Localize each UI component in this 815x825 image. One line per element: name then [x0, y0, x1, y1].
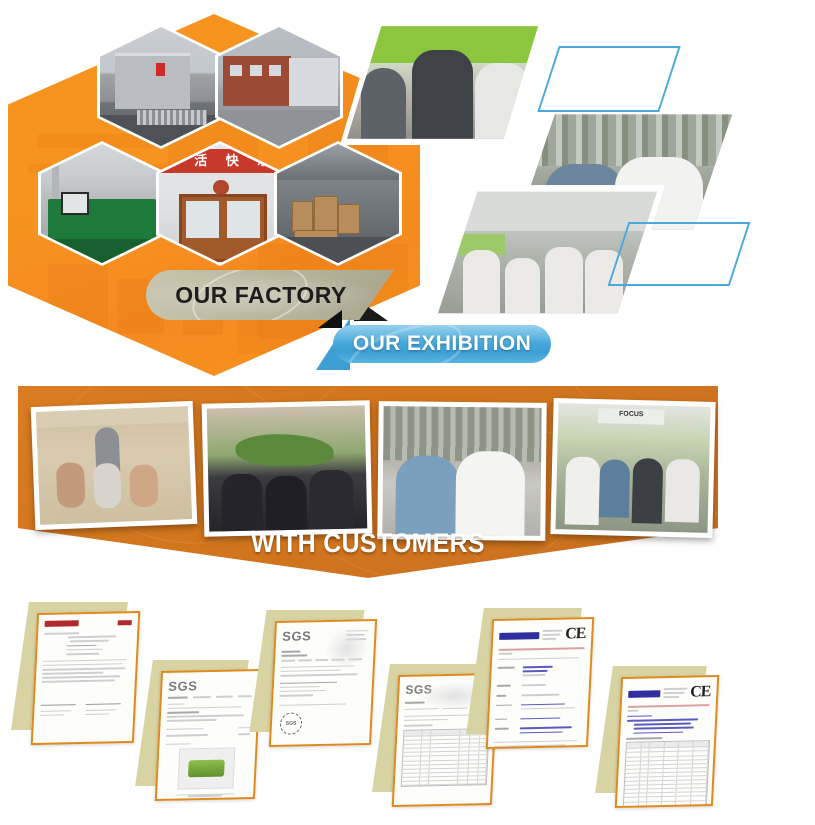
- building-shape: [115, 53, 191, 108]
- text-line: [664, 688, 688, 690]
- person-shape: [93, 463, 122, 509]
- field-label: [495, 718, 507, 720]
- field-value: [520, 707, 574, 710]
- section-title: [626, 737, 662, 739]
- exhibition-photo-exhibition-booth-visitors[interactable]: [340, 20, 545, 145]
- divider-line: [499, 647, 585, 650]
- photo-inner: [100, 27, 222, 146]
- text-line: [633, 727, 694, 730]
- text-line: [239, 727, 251, 729]
- certificate-content: SGS: [271, 621, 375, 745]
- issuer-logo: [628, 690, 660, 698]
- emblem-shape: [213, 180, 229, 195]
- field-value: [521, 703, 565, 706]
- customers-section: FOCUS WITH CUSTOMERS: [0, 380, 815, 595]
- results-table: [622, 740, 710, 808]
- store-shelf-backdrop: [383, 406, 542, 461]
- text-line: [279, 694, 314, 696]
- certificate-cert-authorization-letter[interactable]: [34, 612, 133, 740]
- plant-shape: [236, 433, 335, 467]
- signature-1: [41, 694, 76, 706]
- person-shape: [565, 456, 600, 525]
- green-product-shape: [188, 760, 224, 777]
- person-shape: [505, 258, 540, 320]
- field-value: [522, 674, 545, 676]
- certificate-content: CE: [617, 677, 717, 806]
- window-shape: [269, 65, 281, 76]
- customers-label-text: WITH CUSTOMERS: [46, 528, 690, 559]
- text-line: [542, 638, 556, 640]
- text-line: [543, 630, 563, 632]
- photo-inner: FOCUS: [555, 403, 710, 533]
- person-shape: [412, 50, 474, 145]
- field-label: [496, 695, 506, 697]
- exhibition-label-text: OUR EXHIBITION: [353, 332, 531, 356]
- person-shape: [665, 459, 700, 523]
- field-value: [522, 666, 553, 668]
- text-line: [280, 681, 337, 684]
- table-row: [624, 805, 706, 808]
- text-line: [280, 690, 327, 693]
- text-line: [281, 660, 295, 662]
- field-label: [498, 667, 515, 669]
- text-line: [633, 723, 691, 726]
- report-subtitle-line: [168, 696, 188, 698]
- letterhead-badge: [118, 620, 132, 625]
- customers-photo-customers-booth-focus[interactable]: FOCUS: [550, 398, 715, 538]
- exhibition-section: [330, 0, 815, 380]
- text-line: [70, 640, 109, 642]
- person-shape: [475, 63, 528, 146]
- text-line: [44, 632, 79, 634]
- sgs-logo: SGS: [168, 677, 253, 694]
- text-line: [280, 686, 320, 688]
- text-line: [193, 696, 210, 698]
- text-line: [404, 725, 433, 727]
- text-line: [42, 676, 120, 679]
- photo-inner: 生 活 快 乐: [159, 144, 281, 263]
- shop-shelf-backdrop: [508, 108, 740, 166]
- certificate-sheet: SGS: [155, 669, 261, 801]
- section-title: [627, 715, 652, 717]
- window-shape: [250, 65, 262, 76]
- field-value: [519, 731, 562, 733]
- certificate-cert-sgs-test-report-1[interactable]: SGS: [272, 620, 370, 742]
- watermark: [324, 627, 371, 669]
- text-line: [298, 659, 312, 661]
- text-line: [279, 703, 346, 706]
- field-value: [519, 727, 572, 730]
- ce-mark-icon: CE: [565, 625, 586, 643]
- text-line: [42, 680, 115, 683]
- photo-inner: [382, 406, 541, 536]
- person-shape: [361, 68, 406, 146]
- text-line: [494, 740, 577, 743]
- text-line: [85, 713, 109, 715]
- person-shape: [463, 250, 501, 320]
- photo-inner: [340, 20, 545, 145]
- brick-building-shape: [223, 56, 291, 106]
- text-line: [404, 719, 448, 722]
- photo-inner: [207, 405, 368, 531]
- sgs-logo: SGS: [282, 628, 312, 644]
- text-line: [215, 696, 232, 698]
- person-shape: [395, 455, 459, 535]
- text-line: [43, 663, 123, 666]
- fence-shape: [137, 110, 208, 124]
- issuer-logo: [499, 632, 539, 640]
- product-image: [177, 748, 235, 790]
- report-subtitle-line: [281, 655, 307, 657]
- person-shape: [455, 450, 525, 535]
- person-shape: [56, 462, 85, 508]
- caption-line: [188, 795, 222, 797]
- text-line: [85, 709, 116, 711]
- flag-shape: [156, 63, 165, 76]
- field-value: [521, 684, 546, 686]
- table-row: [402, 780, 486, 786]
- text-line: [280, 673, 358, 676]
- text-line: [166, 728, 203, 730]
- exhibition-outline-shape-2: [608, 222, 751, 286]
- text-line: [663, 692, 684, 694]
- door-glass: [227, 201, 260, 238]
- field-label: [497, 685, 512, 687]
- text-line: [66, 648, 103, 650]
- ce-mark-icon: CE: [690, 683, 711, 701]
- exhibition-label-ribbon[interactable]: OUR EXHIBITION: [333, 325, 551, 363]
- field-value: [522, 670, 548, 672]
- text-line: [40, 710, 71, 712]
- certificate-cert-sgs-test-report-product[interactable]: SGS: [158, 670, 254, 796]
- certificate-cert-ce-declaration[interactable]: CE: [489, 618, 587, 744]
- certificate-content: CE: [488, 619, 592, 747]
- carton-shape: [292, 201, 314, 232]
- person-shape: [309, 470, 354, 530]
- text-line: [404, 714, 478, 717]
- sea-strip: [36, 406, 188, 428]
- person-shape: [265, 475, 307, 530]
- text-line: [238, 733, 250, 735]
- text-line: [42, 667, 125, 670]
- focus-sign-text: FOCUS: [598, 408, 665, 425]
- report-subtitle-line: [281, 651, 300, 653]
- customers-photo-customers-beach-group[interactable]: [31, 401, 198, 530]
- person-shape: [129, 464, 158, 508]
- divider-line: [628, 704, 710, 707]
- certificate-sheet: CE: [615, 675, 720, 808]
- text-line: [167, 706, 241, 709]
- person-shape: [221, 474, 263, 531]
- text-line: [66, 653, 99, 655]
- text-line: [40, 714, 64, 716]
- photo-inner: [36, 406, 192, 525]
- person-shape: [632, 458, 664, 524]
- text-line: [281, 669, 341, 672]
- certificate-sheet: CE: [486, 617, 594, 749]
- photo-inner: [218, 27, 340, 146]
- text-line: [627, 718, 698, 721]
- customers-photo-customers-indoor-trio[interactable]: [202, 400, 373, 536]
- exhibition-outline-shape-1: [537, 46, 680, 112]
- text-line: [167, 714, 244, 717]
- banner-stage: 生 活 快 乐 OUR FACTORY: [0, 0, 815, 825]
- text-line: [498, 657, 579, 660]
- photo-inner: [41, 144, 163, 263]
- text-line: [166, 734, 208, 736]
- stamp-circle: SGS: [279, 712, 302, 734]
- text-line: [542, 634, 560, 636]
- hex-ghost-shape: [48, 264, 108, 334]
- door-glass: [186, 201, 219, 238]
- certificate-sheet: SGS: [269, 619, 377, 747]
- window-shape: [230, 65, 242, 76]
- text-line: [663, 696, 679, 698]
- certificate-cert-ce-test-data[interactable]: CE: [618, 676, 712, 803]
- text-line: [166, 743, 191, 745]
- certificates-section: SGS: [0, 598, 815, 825]
- results-table: [401, 728, 490, 787]
- text-line: [633, 731, 684, 734]
- text-line: [42, 672, 103, 675]
- person-shape: [545, 247, 583, 320]
- field-value: [520, 717, 561, 719]
- certificate-content: [33, 613, 138, 743]
- text-line: [498, 653, 512, 655]
- sgs-round-stamp: SGS: [279, 712, 302, 734]
- customers-photo-customers-thumbsup-pair[interactable]: [377, 401, 546, 541]
- text-line: [68, 636, 116, 639]
- text-line: [43, 659, 127, 662]
- field-label: [495, 728, 509, 730]
- control-panel-shape: [61, 192, 89, 215]
- text-line: [167, 719, 218, 722]
- text-line: [66, 644, 97, 646]
- field-value: [521, 693, 559, 695]
- certificate-sheet: [31, 611, 141, 745]
- person-shape: [598, 460, 630, 519]
- text-line: [238, 695, 252, 697]
- letterhead-logo: [44, 620, 78, 627]
- text-line: [167, 711, 199, 713]
- text-line: [494, 744, 566, 747]
- field-label: [496, 704, 512, 706]
- text-line: [627, 710, 639, 712]
- text-line: [167, 703, 184, 705]
- signature-2: [85, 693, 120, 705]
- certificate-content: SGS: [157, 671, 259, 799]
